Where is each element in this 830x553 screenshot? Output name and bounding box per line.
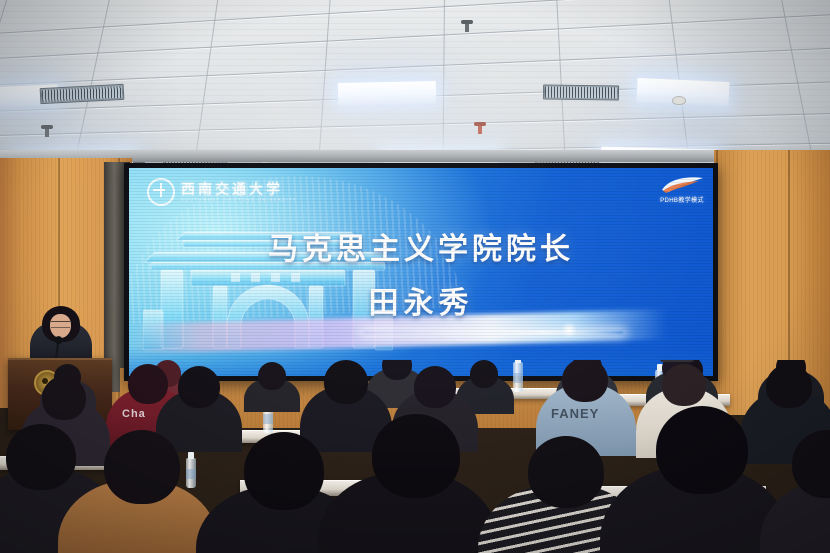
program-brand-lockup: PDHB教学模式 <box>659 176 705 204</box>
baseball-cap <box>660 360 694 362</box>
lecture-hall-photo: 西南交通大学 SOUTHWEST JIAOTONG UNIVERSITY PDH… <box>0 0 830 553</box>
ceiling-shading <box>0 0 830 175</box>
screen-light-beam <box>363 331 623 334</box>
speaker-glasses <box>51 321 70 328</box>
jacket-text-cha: Cha <box>122 408 146 420</box>
slide-title-line: 马克思主义学院院长 <box>129 224 713 268</box>
water-bottle <box>513 362 523 392</box>
swoosh-icon <box>659 176 705 194</box>
university-name-cn: 西南交通大学 <box>181 182 297 197</box>
water-bottle <box>186 458 196 488</box>
jacket-text-faney: FANEY <box>551 406 599 421</box>
university-name-en: SOUTHWEST JIAOTONG UNIVERSITY <box>181 197 297 202</box>
ceiling <box>0 0 830 175</box>
slide-speaker-name: 田永秀 <box>129 278 713 322</box>
presentation-screen[interactable]: 西南交通大学 SOUTHWEST JIAOTONG UNIVERSITY PDH… <box>129 168 713 376</box>
university-brand-lockup: 西南交通大学 SOUTHWEST JIAOTONG UNIVERSITY <box>147 178 297 206</box>
program-brand-label: PDHB教学模式 <box>660 195 704 204</box>
audience-area: Cha FANEY <box>0 360 830 553</box>
university-crest-icon <box>147 178 175 206</box>
